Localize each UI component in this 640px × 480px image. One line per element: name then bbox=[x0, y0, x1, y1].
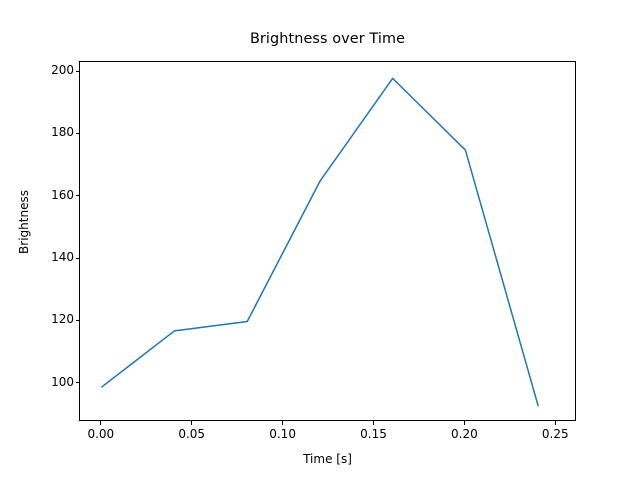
y-tick-mark bbox=[76, 382, 80, 383]
y-tick-mark bbox=[76, 133, 80, 134]
x-tick-label: 0.20 bbox=[434, 427, 494, 441]
y-tick-label: 200 bbox=[14, 63, 74, 77]
y-tick-mark bbox=[76, 258, 80, 259]
y-tick-label: 100 bbox=[14, 375, 74, 389]
x-tick-mark bbox=[282, 421, 283, 425]
brightness-polyline bbox=[102, 78, 538, 405]
line-series-brightness bbox=[80, 62, 577, 422]
y-tick-mark bbox=[76, 195, 80, 196]
matplotlib-figure: Brightness over Time 100120140160180200 … bbox=[0, 0, 640, 480]
x-tick-label: 0.10 bbox=[253, 427, 313, 441]
chart-title: Brightness over Time bbox=[79, 31, 576, 47]
x-tick-mark bbox=[464, 421, 465, 425]
x-tick-mark bbox=[373, 421, 374, 425]
y-axis-label: Brightness bbox=[17, 162, 31, 282]
x-axis-label: Time [s] bbox=[79, 452, 576, 466]
x-tick-label: 0.15 bbox=[343, 427, 403, 441]
x-tick-mark bbox=[100, 421, 101, 425]
x-tick-label: 0.25 bbox=[525, 427, 585, 441]
x-tick-mark bbox=[191, 421, 192, 425]
plot-axes-area bbox=[79, 61, 576, 421]
y-tick-label: 120 bbox=[14, 312, 74, 326]
y-tick-mark bbox=[76, 320, 80, 321]
x-tick-label: 0.05 bbox=[162, 427, 222, 441]
y-tick-label: 180 bbox=[14, 125, 74, 139]
y-tick-mark bbox=[76, 71, 80, 72]
x-tick-mark bbox=[555, 421, 556, 425]
x-tick-label: 0.00 bbox=[71, 427, 131, 441]
